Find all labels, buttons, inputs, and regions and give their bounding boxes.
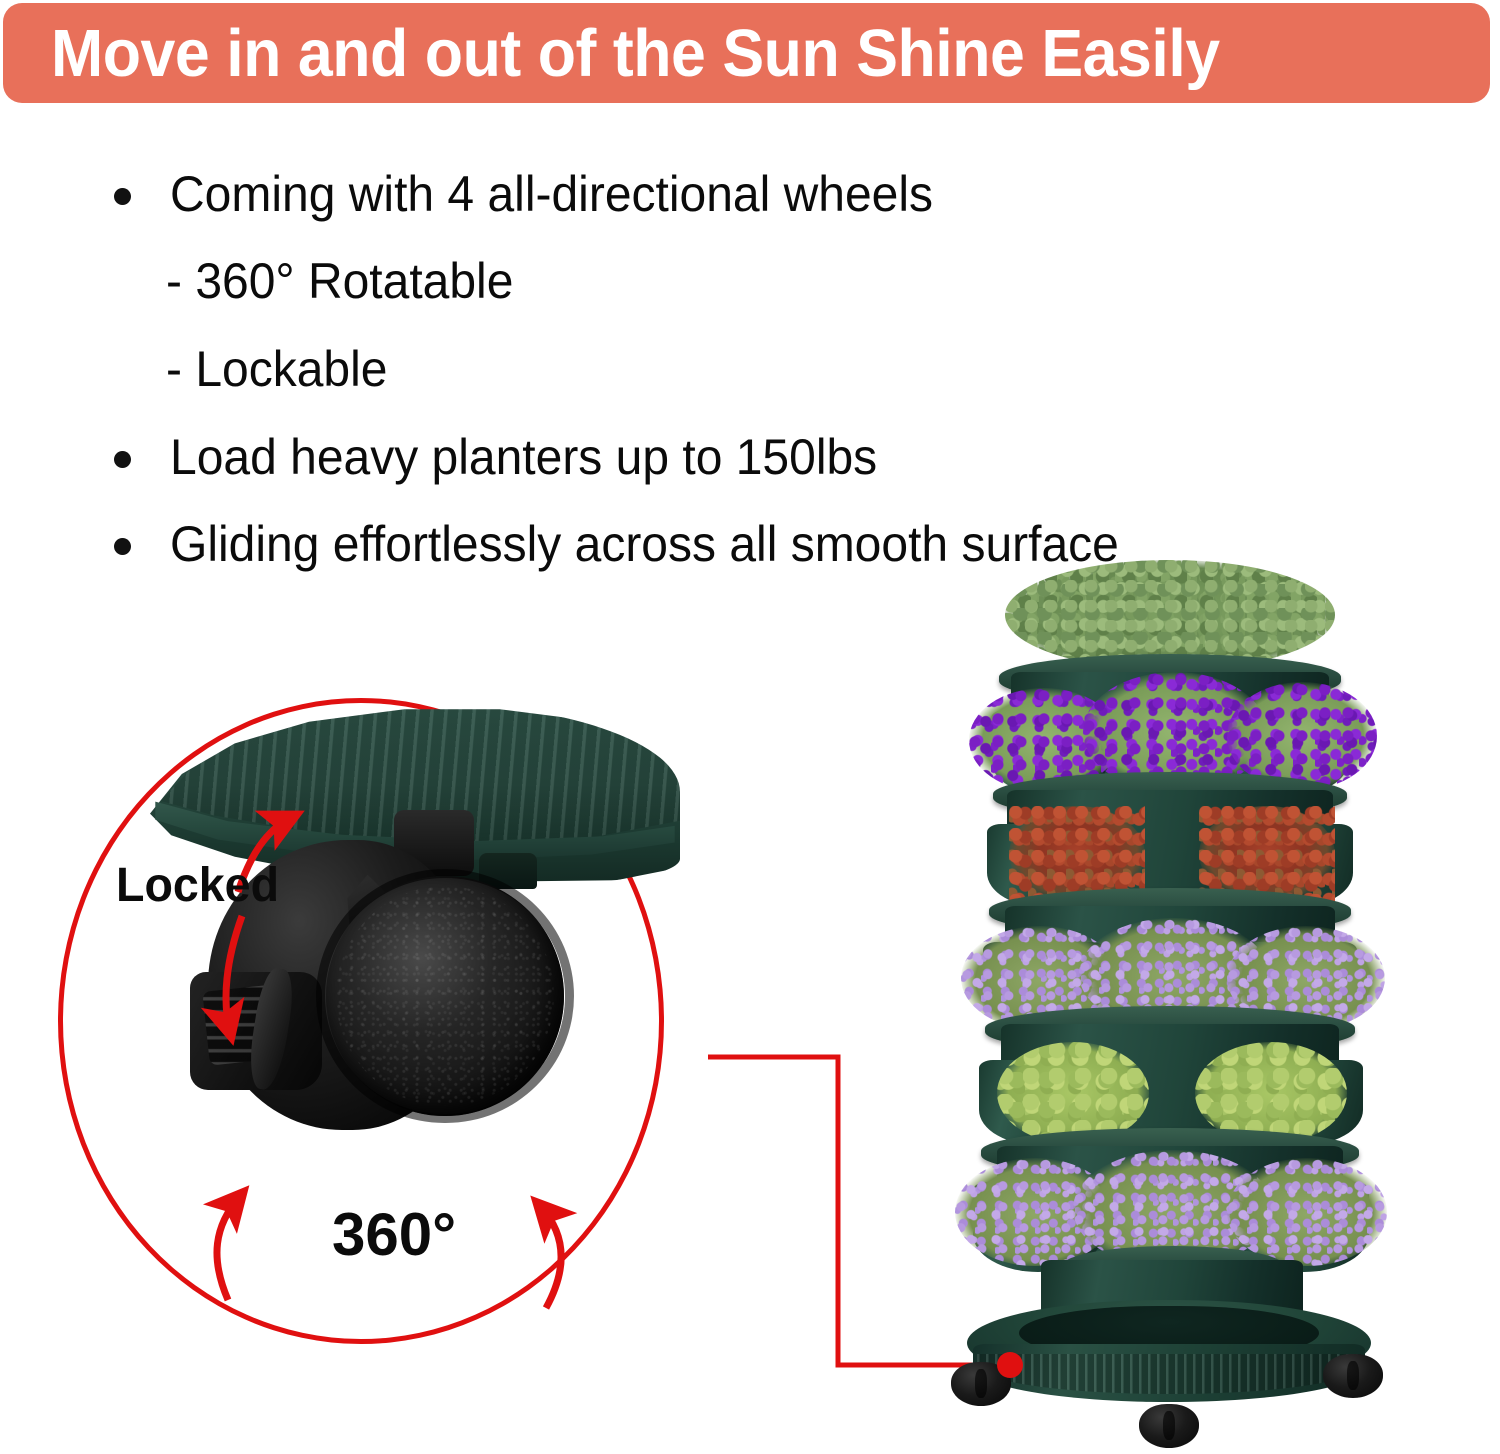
- plant-coleus-right: [1199, 806, 1335, 902]
- bullet-dot-icon: [114, 451, 131, 468]
- product-image-planter-tower: [955, 560, 1385, 1451]
- feature-text: - 360° Rotatable: [166, 245, 513, 317]
- base-caster-wheel: [1139, 1404, 1199, 1448]
- base-caster-front: [1139, 1404, 1199, 1454]
- list-item: - Lockable: [108, 333, 1478, 421]
- list-item: Load heavy planters up to 150lbs: [108, 421, 1478, 508]
- locked-label: Locked: [116, 862, 279, 910]
- rolling-caddy-base: [967, 1300, 1371, 1430]
- callout-endpoint-marker: [997, 1352, 1023, 1378]
- list-item: - 360° Rotatable: [108, 245, 1478, 333]
- caster-brake-lever: [190, 972, 322, 1090]
- rotation-label: 360°: [332, 1205, 456, 1265]
- header-banner: Move in and out of the Sun Shine Easily: [3, 3, 1490, 103]
- feature-list: Coming with 4 all-directional wheels - 3…: [108, 158, 1478, 595]
- list-item: Coming with 4 all-directional wheels: [108, 158, 1478, 245]
- bullet-dot-icon: [114, 538, 131, 555]
- page-title: Move in and out of the Sun Shine Easily: [51, 16, 1379, 92]
- base-caster-wheel: [1323, 1354, 1383, 1398]
- caster-wheel-face: [326, 876, 564, 1116]
- feature-text: Load heavy planters up to 150lbs: [170, 421, 877, 493]
- feature-text: Coming with 4 all-directional wheels: [170, 158, 933, 230]
- feature-text: - Lockable: [166, 333, 387, 405]
- wheel-rim: [316, 869, 573, 1123]
- base-caster-right: [1323, 1354, 1383, 1404]
- plant-lobelia-bottom-right: [1227, 1158, 1387, 1266]
- bullet-dot-icon: [114, 188, 131, 205]
- plant-coleus-left: [1009, 806, 1145, 902]
